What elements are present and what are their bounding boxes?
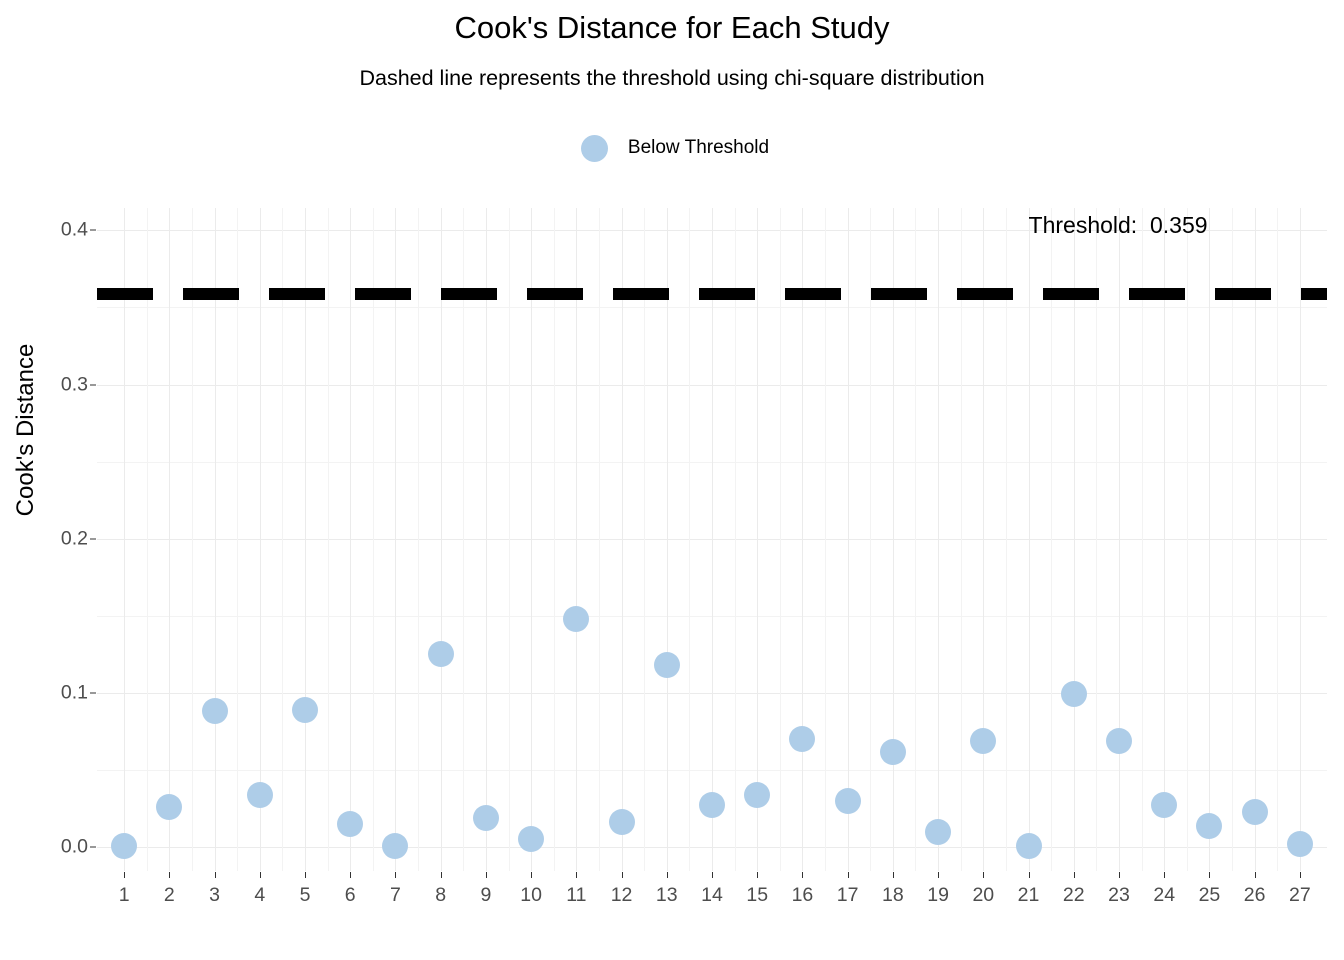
threshold-line-dash xyxy=(1129,288,1185,300)
cooks-distance-chart: Cook's Distance for Each Study Dashed li… xyxy=(0,0,1344,960)
x-axis-tick-label: 24 xyxy=(1153,884,1175,907)
gridline-major-vertical xyxy=(1255,208,1256,871)
gridline-minor-vertical xyxy=(147,208,148,871)
x-axis-tick-label: 1 xyxy=(119,884,130,907)
gridline-major-vertical xyxy=(848,208,849,871)
gridline-minor-vertical xyxy=(192,208,193,871)
threshold-line-dash xyxy=(183,288,239,300)
chart-legend: Below Threshold xyxy=(0,128,1344,168)
x-axis-tick-label: 3 xyxy=(209,884,220,907)
x-axis-tick-mark xyxy=(1209,872,1210,878)
data-point[interactable] xyxy=(337,811,363,837)
x-axis-tick-label: 13 xyxy=(656,884,678,907)
gridline-major-vertical xyxy=(169,208,170,871)
gridline-minor-vertical xyxy=(237,208,238,871)
gridline-major-vertical xyxy=(260,208,261,871)
x-axis-tick-mark xyxy=(260,872,261,878)
x-axis-tick-label: 14 xyxy=(701,884,723,907)
chart-subtitle: Dashed line represents the threshold usi… xyxy=(0,66,1344,91)
threshold-line-dash xyxy=(785,288,841,300)
x-axis-tick-label: 4 xyxy=(254,884,265,907)
data-point[interactable] xyxy=(1242,799,1268,825)
threshold-line-dash xyxy=(957,288,1013,300)
gridline-major-vertical xyxy=(1119,208,1120,871)
y-axis-tick-label: 0.3 xyxy=(61,373,88,396)
gridline-minor-vertical xyxy=(1232,208,1233,871)
gridline-major-vertical xyxy=(486,208,487,871)
data-point[interactable] xyxy=(1061,681,1087,707)
x-axis-tick-mark xyxy=(848,872,849,878)
threshold-line-dash xyxy=(527,288,583,300)
gridline-major-vertical xyxy=(350,208,351,871)
gridline-minor-vertical xyxy=(915,208,916,871)
x-axis-tick-mark xyxy=(576,872,577,878)
x-axis-tick-mark xyxy=(667,872,668,878)
x-axis-tick-mark xyxy=(757,872,758,878)
y-axis-tick-mark xyxy=(90,384,96,385)
x-axis-tick-mark xyxy=(124,872,125,878)
data-point[interactable] xyxy=(1016,833,1042,859)
x-axis-tick-label: 16 xyxy=(792,884,814,907)
x-axis-tick-mark xyxy=(1255,872,1256,878)
gridline-minor-vertical xyxy=(554,208,555,871)
gridline-major-vertical xyxy=(124,208,125,871)
gridline-major-vertical xyxy=(983,208,984,871)
data-point[interactable] xyxy=(1287,831,1313,857)
x-axis-tick-label: 7 xyxy=(390,884,401,907)
gridline-minor-vertical xyxy=(870,208,871,871)
gridline-major-vertical xyxy=(802,208,803,871)
y-axis-title: Cook's Distance xyxy=(12,190,40,670)
y-axis-tick-label: 0.2 xyxy=(61,527,88,550)
gridline-major-vertical xyxy=(712,208,713,871)
gridline-minor-vertical xyxy=(689,208,690,871)
gridline-minor-vertical xyxy=(418,208,419,871)
threshold-line-dash xyxy=(613,288,669,300)
x-axis-tick-mark xyxy=(938,872,939,878)
data-point[interactable] xyxy=(699,792,725,818)
data-point[interactable] xyxy=(428,641,454,667)
page-title: Cook's Distance for Each Study xyxy=(0,10,1344,46)
y-axis-tick-marks xyxy=(89,208,96,871)
y-axis-tick-mark xyxy=(90,847,96,848)
x-axis-tick-mark xyxy=(305,872,306,878)
gridline-minor-vertical xyxy=(1006,208,1007,871)
gridline-major-vertical xyxy=(1074,208,1075,871)
x-axis-tick-label: 5 xyxy=(300,884,311,907)
gridline-major-vertical xyxy=(441,208,442,871)
gridline-minor-vertical xyxy=(1277,208,1278,871)
gridline-minor-vertical xyxy=(1096,208,1097,871)
legend-circle-icon xyxy=(581,135,608,162)
x-axis-tick-label: 2 xyxy=(164,884,175,907)
x-axis-tick-label: 23 xyxy=(1108,884,1130,907)
gridline-minor-vertical xyxy=(735,208,736,871)
gridline-major-vertical xyxy=(667,208,668,871)
y-axis-tick-mark xyxy=(90,538,96,539)
x-axis-tick-label: 26 xyxy=(1244,884,1266,907)
gridline-major-vertical xyxy=(1164,208,1165,871)
legend-label-below-threshold: Below Threshold xyxy=(628,137,769,159)
gridline-major-vertical xyxy=(1300,208,1301,871)
legend-key-below-threshold xyxy=(575,128,615,168)
threshold-line-dash xyxy=(1043,288,1099,300)
gridline-major-vertical xyxy=(893,208,894,871)
data-point[interactable] xyxy=(835,788,861,814)
data-point[interactable] xyxy=(609,809,635,835)
data-point[interactable] xyxy=(292,697,318,723)
x-axis-tick-label: 18 xyxy=(882,884,904,907)
data-point[interactable] xyxy=(156,794,182,820)
threshold-line-dash xyxy=(1301,288,1327,300)
gridline-minor-vertical xyxy=(373,208,374,871)
x-axis-tick-label: 22 xyxy=(1063,884,1085,907)
y-axis-tick-mark xyxy=(90,230,96,231)
gridline-major-vertical xyxy=(531,208,532,871)
gridline-major-vertical xyxy=(576,208,577,871)
gridline-minor-vertical xyxy=(825,208,826,871)
data-point[interactable] xyxy=(925,819,951,845)
gridline-major-vertical xyxy=(395,208,396,871)
plot-panel: Threshold: 0.359 xyxy=(97,208,1327,871)
data-point[interactable] xyxy=(789,726,815,752)
gridline-minor-vertical xyxy=(282,208,283,871)
x-axis-tick-mark xyxy=(1029,872,1030,878)
x-axis-tick-mark xyxy=(712,872,713,878)
gridline-major-vertical xyxy=(938,208,939,871)
x-axis-tick-mark xyxy=(802,872,803,878)
gridline-minor-vertical xyxy=(463,208,464,871)
x-axis-tick-mark xyxy=(1300,872,1301,878)
data-point[interactable] xyxy=(1106,728,1132,754)
y-axis-tick-mark xyxy=(90,692,96,693)
y-axis-tick-label: 0.1 xyxy=(61,681,88,704)
data-point[interactable] xyxy=(202,698,228,724)
data-point[interactable] xyxy=(518,826,544,852)
threshold-line-dash xyxy=(1215,288,1271,300)
x-axis-tick-label: 19 xyxy=(927,884,949,907)
data-point[interactable] xyxy=(111,833,137,859)
x-axis-tick-mark xyxy=(395,872,396,878)
x-axis-tick-mark xyxy=(441,872,442,878)
gridline-minor-vertical xyxy=(780,208,781,871)
x-axis-tick-label: 20 xyxy=(972,884,994,907)
gridline-minor-vertical xyxy=(328,208,329,871)
x-axis-tick-mark xyxy=(169,872,170,878)
threshold-line-dash xyxy=(269,288,325,300)
x-axis-tick-label: 17 xyxy=(837,884,859,907)
gridline-major-vertical xyxy=(215,208,216,871)
x-axis-tick-mark xyxy=(983,872,984,878)
y-axis-tick-label: 0.0 xyxy=(61,836,88,859)
gridline-minor-vertical xyxy=(1142,208,1143,871)
gridline-major-vertical xyxy=(305,208,306,871)
x-axis-tick-mark xyxy=(531,872,532,878)
x-axis-tick-label: 9 xyxy=(480,884,491,907)
x-axis-tick-label: 10 xyxy=(520,884,542,907)
data-point[interactable] xyxy=(970,728,996,754)
x-axis-tick-mark xyxy=(1119,872,1120,878)
x-axis-tick-mark xyxy=(1164,872,1165,878)
x-axis-tick-label: 21 xyxy=(1018,884,1040,907)
x-axis-tick-mark xyxy=(486,872,487,878)
x-axis-tick-label: 25 xyxy=(1199,884,1221,907)
threshold-line-dash xyxy=(699,288,755,300)
gridline-minor-vertical xyxy=(961,208,962,871)
data-point[interactable] xyxy=(744,782,770,808)
x-axis-tick-label: 11 xyxy=(566,884,586,907)
data-point[interactable] xyxy=(382,833,408,859)
x-axis-tick-mark xyxy=(1074,872,1075,878)
x-axis-tick-label: 8 xyxy=(435,884,446,907)
gridline-minor-vertical xyxy=(509,208,510,871)
x-axis-tick-mark xyxy=(350,872,351,878)
gridline-minor-vertical xyxy=(1051,208,1052,871)
y-axis-tick-label: 0.4 xyxy=(61,219,88,242)
data-point[interactable] xyxy=(654,652,680,678)
gridline-major-vertical xyxy=(1029,208,1030,871)
data-point[interactable] xyxy=(880,739,906,765)
x-axis-tick-mark xyxy=(622,872,623,878)
data-point[interactable] xyxy=(563,606,589,632)
threshold-annotation: Threshold: 0.359 xyxy=(1029,212,1208,239)
data-point[interactable] xyxy=(1151,792,1177,818)
threshold-line-dash xyxy=(871,288,927,300)
data-point[interactable] xyxy=(1196,813,1222,839)
x-axis-tick-label: 27 xyxy=(1289,884,1311,907)
data-point[interactable] xyxy=(247,782,273,808)
x-axis-tick-label: 15 xyxy=(746,884,768,907)
gridline-minor-vertical xyxy=(1187,208,1188,871)
gridline-minor-vertical xyxy=(644,208,645,871)
gridline-major-vertical xyxy=(622,208,623,871)
gridline-major-vertical xyxy=(1209,208,1210,871)
x-axis-tick-mark xyxy=(893,872,894,878)
x-axis-tick-mark xyxy=(215,872,216,878)
x-axis-tick-label: 12 xyxy=(611,884,633,907)
x-axis-tick-label: 6 xyxy=(345,884,356,907)
threshold-line-dash xyxy=(97,288,153,300)
threshold-line-dash xyxy=(441,288,497,300)
threshold-line-dash xyxy=(355,288,411,300)
gridline-minor-vertical xyxy=(599,208,600,871)
gridline-major-vertical xyxy=(757,208,758,871)
data-point[interactable] xyxy=(473,805,499,831)
